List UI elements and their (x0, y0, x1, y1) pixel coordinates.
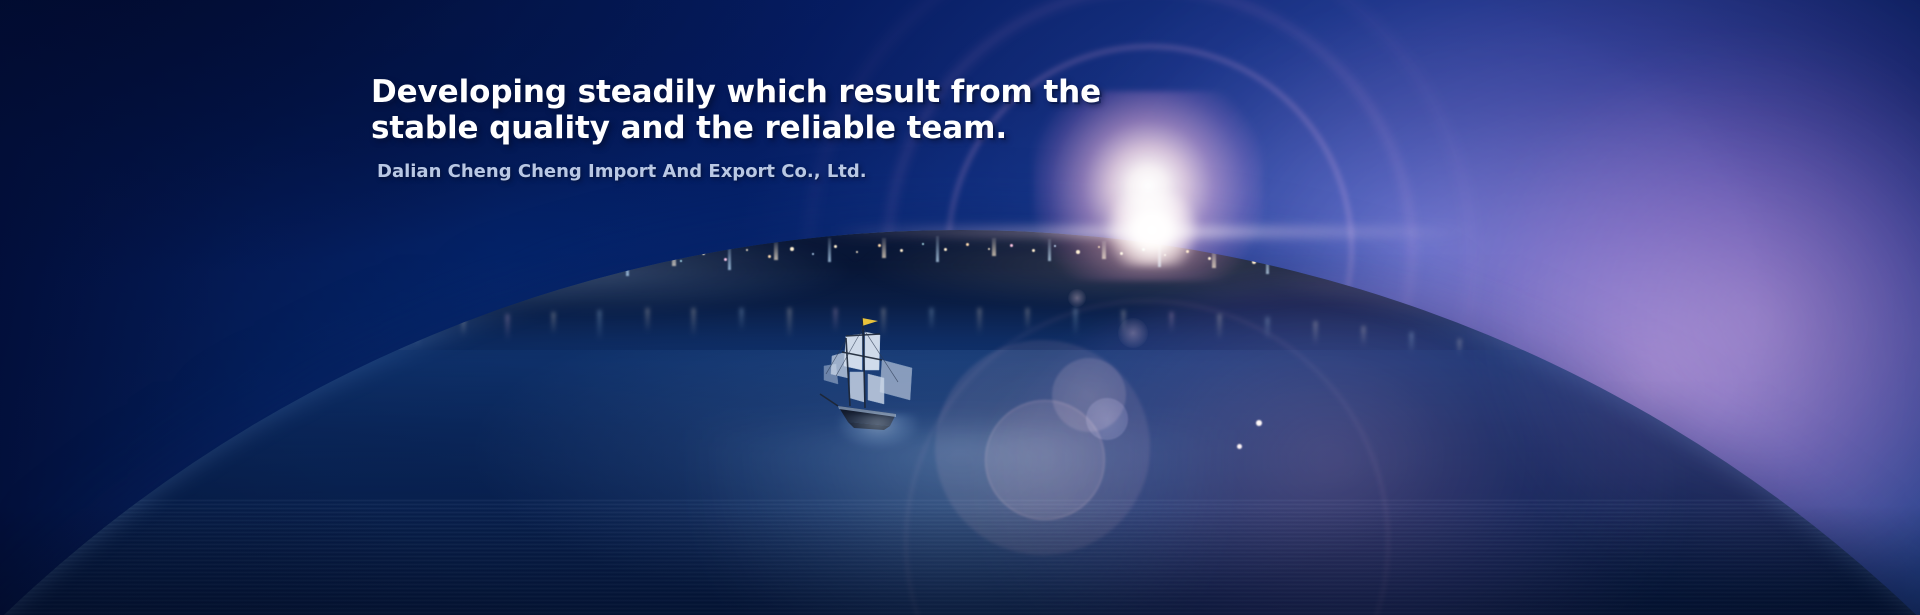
banner-headline: Developing steadily which result from th… (371, 74, 1151, 146)
headline-line-1: Developing steadily which result from th… (371, 74, 1151, 110)
sailing-ship-icon (812, 308, 922, 438)
ship-wake (838, 414, 918, 448)
banner-copy: Developing steadily which result from th… (371, 74, 1151, 184)
headline-line-2: stable quality and the reliable team. (371, 110, 1151, 146)
company-name: Dalian Cheng Cheng Import And Export Co.… (377, 160, 1151, 184)
hero-banner: Developing steadily which result from th… (0, 0, 1920, 615)
sun-core-hot (1104, 194, 1200, 266)
